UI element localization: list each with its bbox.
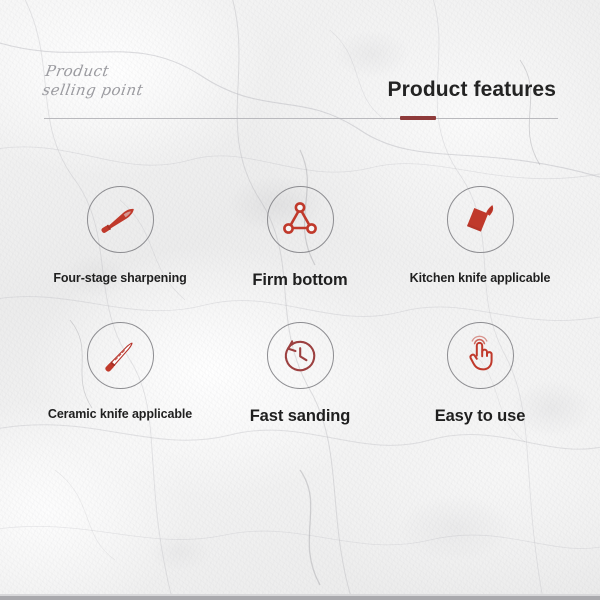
ceramic-knife-icon <box>97 333 143 379</box>
product-features-banner: Product selling point Product features <box>0 0 600 600</box>
feature-grid: Four-stage sharpening Firm bottom <box>30 186 570 426</box>
feature-item-fast-sanding[interactable]: Fast sanding <box>210 322 390 426</box>
feature-label: Kitchen knife applicable <box>410 271 551 285</box>
feature-icon-circle <box>447 322 514 389</box>
fast-clock-icon <box>279 335 321 377</box>
tap-hand-icon <box>459 335 501 377</box>
feature-icon-circle <box>267 322 334 389</box>
feature-item-easy-to-use[interactable]: Easy to use <box>390 322 570 426</box>
chef-knife-icon <box>97 197 143 243</box>
feature-item-firm-bottom[interactable]: Firm bottom <box>210 186 390 290</box>
feature-icon-circle <box>447 186 514 253</box>
feature-row: Ceramic knife applicable Fast sanding <box>30 322 570 426</box>
bottom-edge-strip <box>0 596 600 600</box>
header-divider-accent <box>400 116 436 120</box>
feature-item-ceramic-knife-applicable[interactable]: Ceramic knife applicable <box>30 322 210 421</box>
feature-icon-circle <box>87 322 154 389</box>
feature-icon-circle <box>267 186 334 253</box>
feature-label: Firm bottom <box>252 271 347 290</box>
cleaver-icon <box>457 197 503 243</box>
feature-item-four-stage-sharpening[interactable]: Four-stage sharpening <box>30 186 210 285</box>
feature-row: Four-stage sharpening Firm bottom <box>30 186 570 290</box>
page-title: Product features <box>388 78 556 102</box>
header-divider <box>44 118 558 119</box>
script-subtitle: Product selling point <box>41 62 227 100</box>
feature-item-kitchen-knife-applicable[interactable]: Kitchen knife applicable <box>390 186 570 285</box>
feature-label: Easy to use <box>435 407 526 426</box>
feature-label: Fast sanding <box>250 407 351 426</box>
feature-label: Four-stage sharpening <box>53 271 186 285</box>
triangle-nodes-icon <box>278 198 322 242</box>
feature-label: Ceramic knife applicable <box>48 407 192 421</box>
feature-icon-circle <box>87 186 154 253</box>
